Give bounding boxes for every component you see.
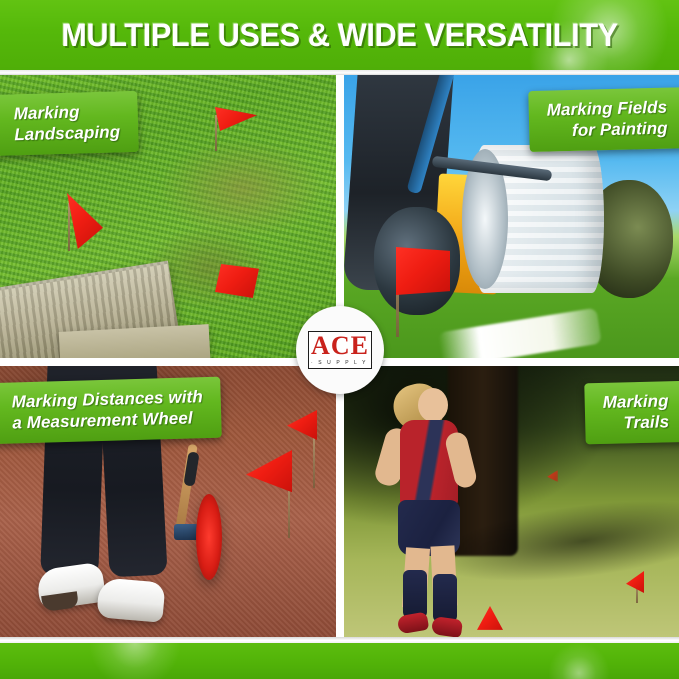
panel-marking-trails: Marking Trails [344,366,679,643]
sparkle-icon [549,643,609,679]
runner-figure [384,384,494,634]
sparkle-icon [90,643,180,679]
panel-marking-landscaping: Marking Landscaping [0,75,336,358]
brand-logo: ACE · S U P P L Y · [296,306,384,394]
caption-marking-fields-for-painting: Marking Fields for Painting [528,87,679,153]
runner-head [418,388,448,422]
marker-flag-icon [392,225,462,335]
walker-shoe [96,577,165,623]
page-title: MULTIPLE USES & WIDE VERSATILITY [14,0,666,70]
logo-brand-text: ACE [311,334,369,359]
runner-shoe [397,612,430,635]
caption-marking-landscaping: Marking Landscaping [0,91,139,157]
product-infographic-poster: MULTIPLE USES & WIDE VERSATILITY [0,0,679,679]
runner-jersey [400,420,458,508]
runner-shoe [431,616,463,638]
painted-field-line [438,308,602,358]
caption-marking-trails: Marking Trails [584,381,679,445]
marker-flag-icon [62,193,132,255]
marker-flag-icon [205,103,265,151]
marker-flag-icon [477,606,511,638]
logo-tagline-text: · S U P P L Y · [311,360,369,366]
marker-flag-icon [283,410,325,488]
marker-flag-icon [624,571,656,605]
marker-flag-icon [547,470,563,490]
measuring-wheel [196,494,222,580]
caption-marking-distances: Marking Distances with a Measurement Whe… [0,377,222,445]
panel-marking-fields-for-painting: Marking Fields for Painting [344,75,679,358]
panel-marking-distances: Marking Distances with a Measurement Whe… [0,366,336,643]
footer-band [0,643,679,679]
runner-sock [433,574,457,622]
logo-frame: ACE · S U P P L Y · [308,331,372,369]
marker-flag-icon [215,260,271,304]
runner-sock [403,570,427,618]
